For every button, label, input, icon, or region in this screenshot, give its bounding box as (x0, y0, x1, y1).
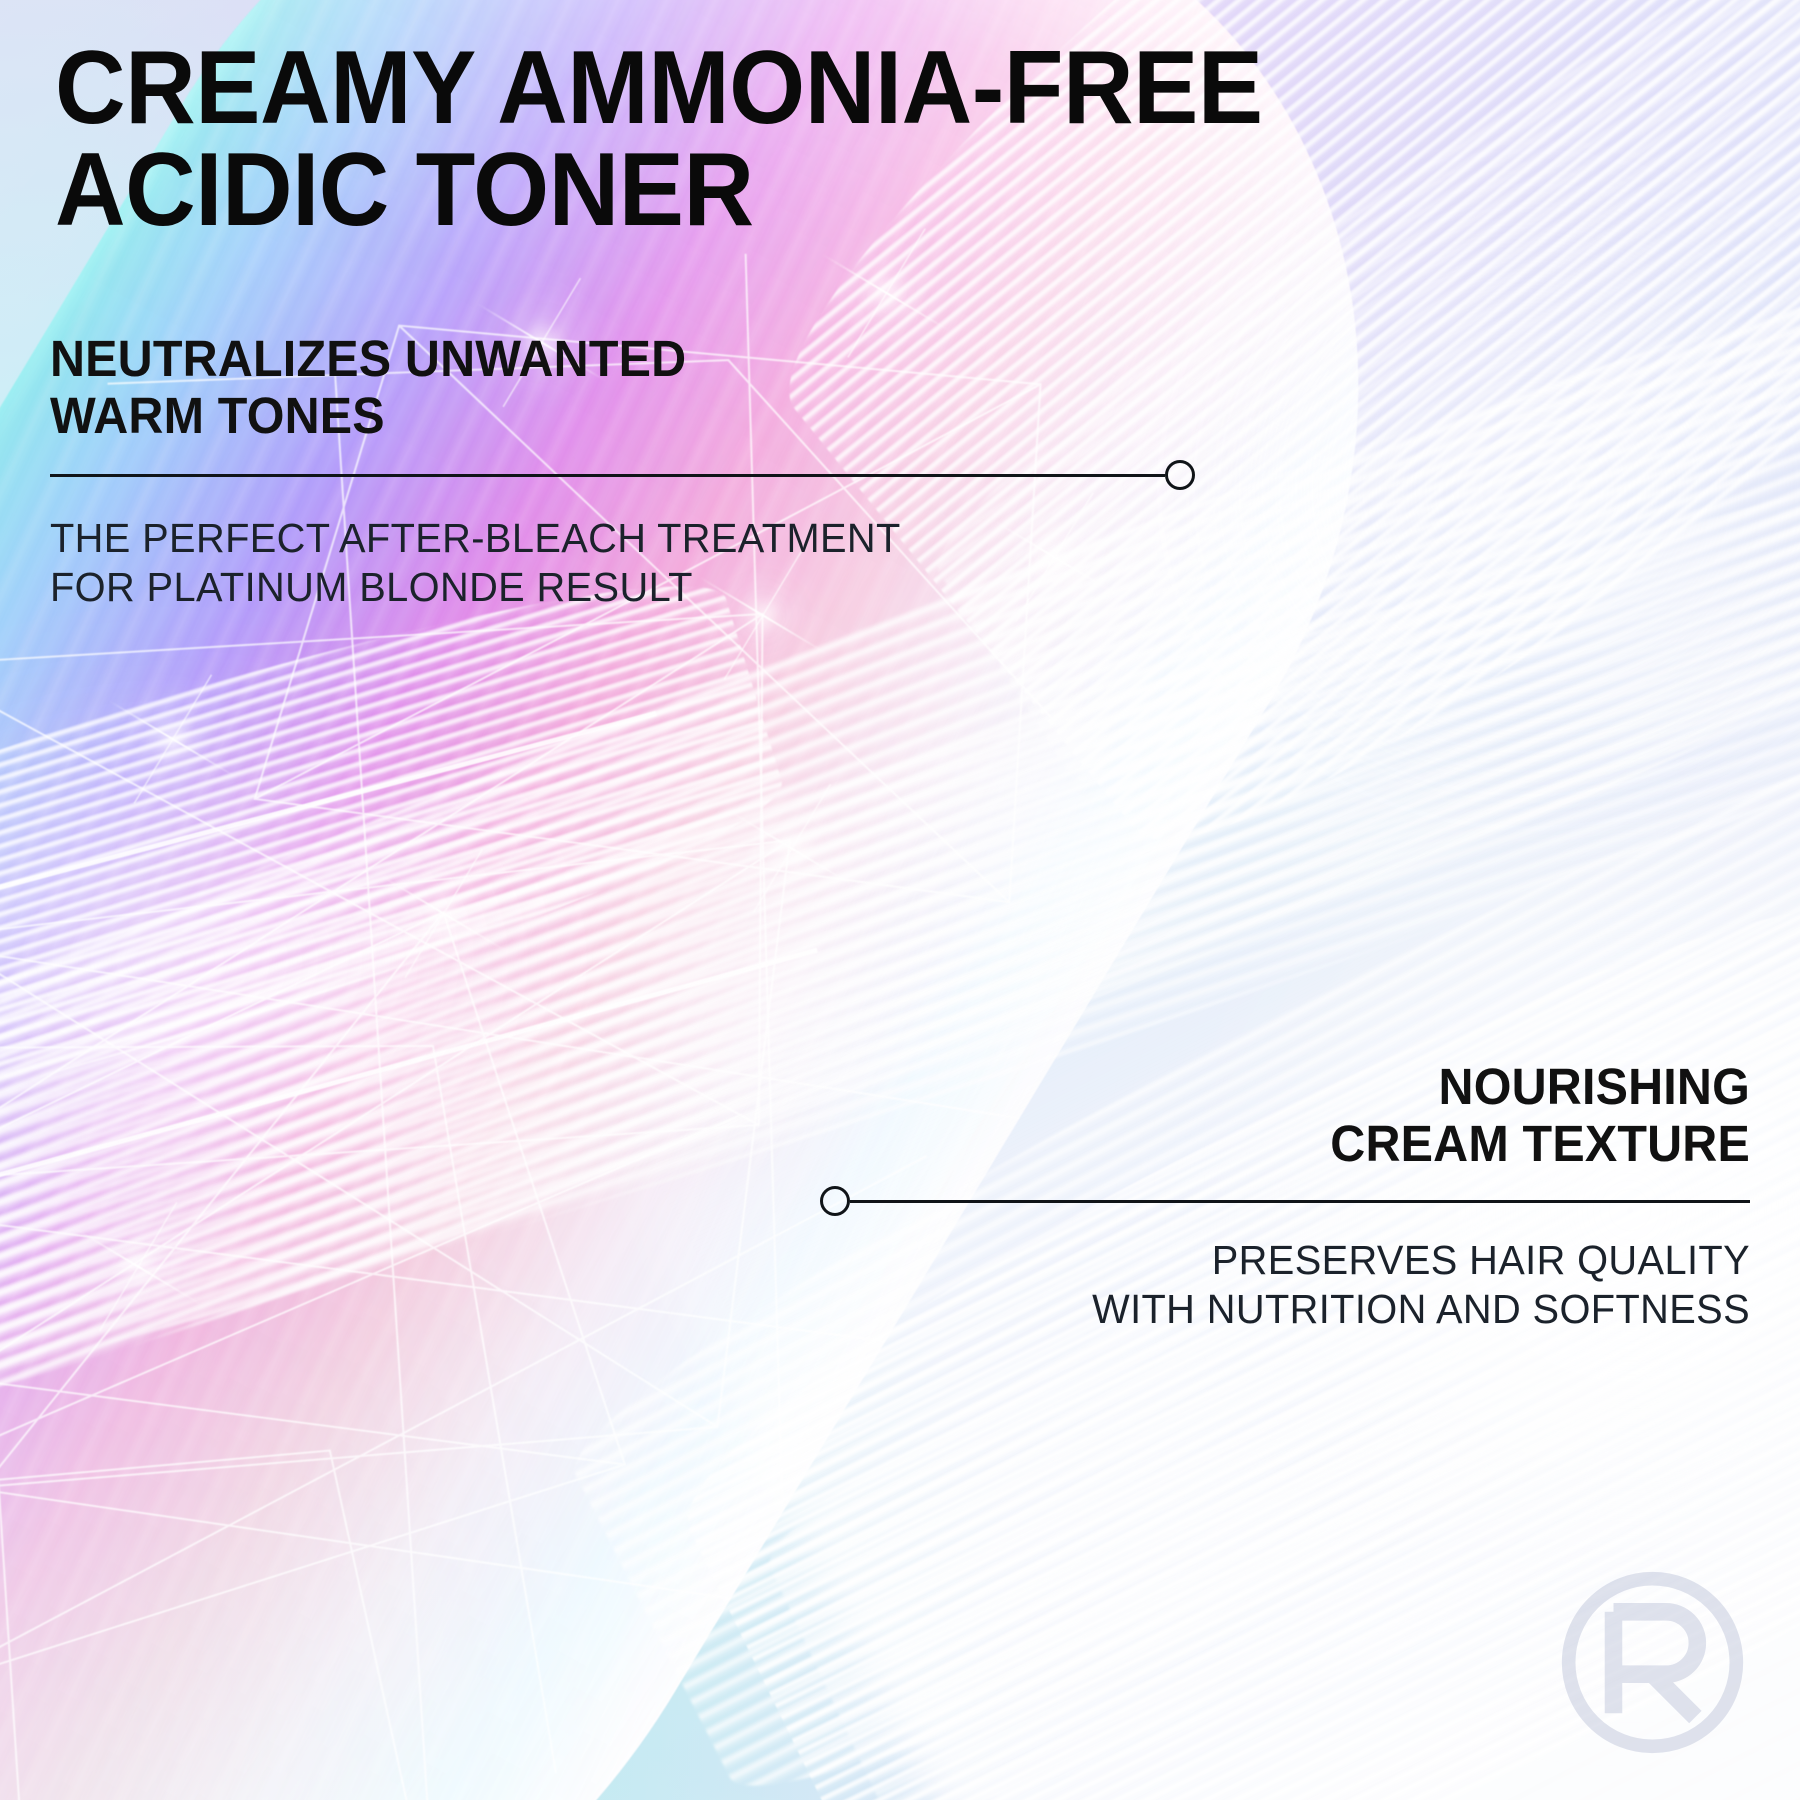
rule-line (50, 474, 1165, 477)
promo-canvas: CREAMY AMMONIA-FREE ACIDIC TONER NEUTRAL… (0, 0, 1800, 1800)
circled-r-logo-icon (1555, 1565, 1750, 1760)
callout-heading: NOURISHING CREAM TEXTURE (867, 1058, 1751, 1172)
page-title: CREAMY AMMONIA-FREE ACIDIC TONER (55, 38, 1465, 242)
callout-subtext: PRESERVES HAIR QUALITY WITH NUTRITION AN… (848, 1236, 1750, 1333)
sparkle (761, 614, 764, 617)
callout-nourishing: NOURISHING CREAM TEXTURE PRESERVES HAIR … (820, 1058, 1750, 1333)
rule-dot-icon (820, 1186, 850, 1216)
callout-rule (820, 1184, 1750, 1218)
rule-line (850, 1200, 1750, 1203)
callout-rule (50, 458, 1195, 492)
callout-neutralizes: NEUTRALIZES UNWANTED WARM TONES THE PERF… (50, 330, 1250, 611)
callout-heading: NEUTRALIZES UNWANTED WARM TONES (50, 330, 1190, 444)
callout-subtext: THE PERFECT AFTER-BLEACH TREATMENT FOR P… (50, 514, 1214, 611)
rule-dot-icon (1165, 460, 1195, 490)
